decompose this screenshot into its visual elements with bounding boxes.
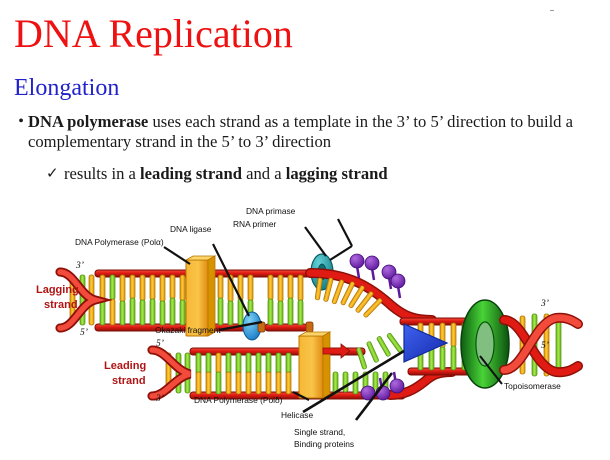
- leading-helix-left: [152, 350, 190, 396]
- bullet-item-secondary: ✓ results in a leading strand and a lagg…: [46, 164, 586, 184]
- subbullet-pre: results in a: [64, 164, 140, 183]
- stray-mark: [550, 10, 554, 11]
- label-okazaki-fragment: Okazaki fragment: [155, 325, 221, 335]
- label-leading-line2: strand: [112, 375, 146, 387]
- label-helicase: Helicase: [281, 410, 313, 420]
- subbullet-bold-leading: leading strand: [140, 164, 242, 183]
- section-subtitle: Elongation: [14, 74, 119, 102]
- bullet-item-primary: • DNA polymerase uses each strand as a t…: [14, 112, 610, 152]
- slide-canvas: DNA Replication Elongation • DNA polymer…: [0, 0, 610, 460]
- topoisomerase-ring: [461, 300, 509, 388]
- label-dna-polymerase-alpha: DNA Polymerase (Polα): [75, 237, 164, 247]
- label-ssb-line1: Single strand,: [294, 427, 345, 437]
- bullet-text-primary: DNA polymerase uses each strand as a tem…: [28, 112, 610, 152]
- leader-pol-alpha: [164, 247, 190, 264]
- label-lagging-line1: Lagging: [36, 284, 79, 296]
- prime-leading-bottom: 3’: [155, 394, 164, 404]
- bullet-marker-icon: •: [14, 112, 28, 132]
- prime-right-top: 3’: [540, 299, 549, 309]
- dna-replication-diagram: DNA Polymerase (Polα) DNA ligase DNA pri…: [0, 196, 610, 460]
- label-ssb-line2: Binding proteins: [294, 439, 354, 449]
- label-dna-primase: DNA primase: [246, 206, 296, 216]
- subbullet-bold-lagging: lagging strand: [286, 164, 388, 183]
- bullet-text-secondary: results in a leading strand and a laggin…: [64, 164, 586, 184]
- label-rna-primer: RNA primer: [233, 219, 276, 229]
- prime-leading-top: 5’: [156, 339, 164, 349]
- label-lagging-line2: strand: [44, 299, 78, 311]
- dna-polymerase-alpha-box: [186, 256, 215, 336]
- label-dna-polymerase-delta: DNA Polymerase (Polδ): [194, 395, 283, 405]
- check-marker-icon: ✓: [46, 164, 64, 184]
- prime-right-bottom: 5’: [541, 341, 549, 351]
- lagging-fork-arm: [310, 273, 432, 320]
- leading-base-pairs: [196, 353, 388, 394]
- subbullet-mid: and a: [242, 164, 286, 183]
- label-leading-line1: Leading: [104, 360, 146, 372]
- bullet-bold-lead: DNA polymerase: [28, 112, 148, 131]
- prime-lagging-top: 3’: [75, 261, 84, 271]
- leader-rna-primer: [305, 227, 326, 256]
- page-title: DNA Replication: [14, 10, 293, 58]
- label-topoisomerase: Topoisomerase: [504, 381, 561, 391]
- prime-lagging-bottom: 5’: [80, 328, 88, 338]
- label-dna-ligase: DNA ligase: [170, 224, 212, 234]
- leader-primase: [330, 219, 352, 260]
